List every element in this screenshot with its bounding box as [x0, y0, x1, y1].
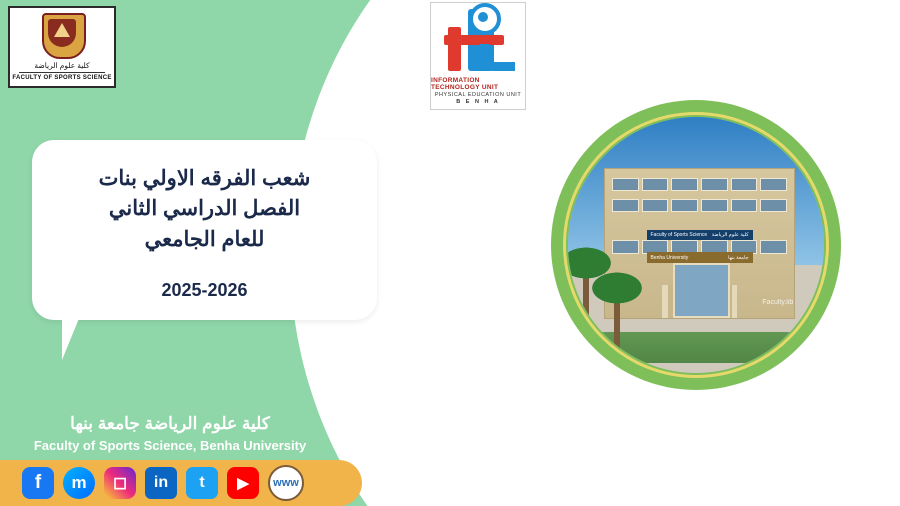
messenger-icon[interactable]: m: [63, 467, 95, 499]
divider: [19, 72, 105, 73]
announcement-line-2: الفصل الدراسي الثاني: [32, 194, 377, 224]
sign-english: Faculty of Sports Science: [651, 232, 708, 238]
shrubs: [568, 332, 824, 363]
palm-tree-icon-2: [614, 292, 620, 358]
it-logo-title: INFORMATION TECHNOLOGY UNIT: [431, 77, 525, 91]
it-unit-logo: INFORMATION TECHNOLOGY UNIT PHYSICAL EDU…: [430, 2, 526, 110]
facebook-icon[interactable]: f: [22, 467, 54, 499]
announcement-line-1: شعب الفرقه الاولي بنات: [32, 164, 377, 194]
it-logo-subtitle: PHYSICAL EDUCATION UNIT: [435, 92, 521, 98]
photo-content: Faculty of Sports Science كلية علوم الري…: [568, 117, 824, 373]
palm-tree-icon: [583, 267, 589, 353]
photo-watermark: Faculty.lib: [762, 299, 793, 306]
twitter-icon[interactable]: t: [186, 467, 218, 499]
footer-english: Faculty of Sports Science, Benha Univers…: [0, 438, 340, 453]
announcement-bubble: شعب الفرقه الاولي بنات الفصل الدراسي الث…: [32, 140, 377, 320]
announcement-year: 2025-2026: [32, 280, 377, 301]
website-icon[interactable]: www: [268, 465, 304, 501]
it-monogram-icon: [442, 5, 514, 77]
bubble-tail: [62, 316, 98, 360]
social-links-bar: f m ◻ in t ▶ www: [0, 460, 362, 506]
faculty-building-photo: Faculty of Sports Science كلية علوم الري…: [551, 100, 841, 390]
poster-canvas: كلية علوم الرياضة FACULTY OF SPORTS SCIE…: [0, 0, 900, 506]
building-sign-top: Faculty of Sports Science كلية علوم الري…: [647, 230, 753, 240]
faculty-logo-arabic: كلية علوم الرياضة: [34, 61, 89, 70]
sign-arabic: كلية علوم الرياضة: [712, 232, 749, 238]
faculty-logo: كلية علوم الرياضة FACULTY OF SPORTS SCIE…: [8, 6, 116, 88]
youtube-icon[interactable]: ▶: [227, 467, 259, 499]
instagram-icon[interactable]: ◻: [104, 467, 136, 499]
sign2-arabic: جامعة بنها: [728, 255, 749, 261]
announcement-text: شعب الفرقه الاولي بنات الفصل الدراسي الث…: [32, 164, 377, 255]
footer-arabic: كلية علوم الرياضة جامعة بنها: [0, 414, 340, 434]
building-sign-bottom: Benha University جامعة بنها: [647, 252, 753, 262]
entrance-door: [673, 263, 730, 317]
announcement-line-3: للعام الجامعي: [32, 225, 377, 255]
university-crest-icon: [36, 11, 88, 59]
it-logo-location: B E N H A: [456, 99, 499, 105]
linkedin-icon[interactable]: in: [145, 467, 177, 499]
faculty-logo-english: FACULTY OF SPORTS SCIENCE: [12, 75, 111, 81]
sign2-english: Benha University: [651, 255, 689, 261]
